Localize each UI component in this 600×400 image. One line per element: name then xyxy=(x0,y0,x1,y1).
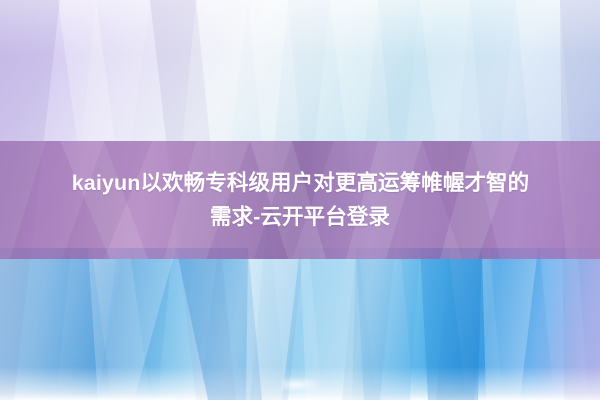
text-overlay-band: kaiyun以欢畅专科级用户对更高运筹帷幄才智的 需求-云开平台登录 xyxy=(0,141,600,259)
watermark-smudge xyxy=(282,378,318,390)
banner-headline: kaiyun以欢畅专科级用户对更高运筹帷幄才智的 需求-云开平台登录 xyxy=(0,141,600,259)
banner-image: kaiyun以欢畅专科级用户对更高运筹帷幄才智的 需求-云开平台登录 xyxy=(0,0,600,400)
headline-line-1: kaiyun以欢畅专科级用户对更高运筹帷幄才智的 xyxy=(71,168,530,198)
headline-line-2: 需求-云开平台登录 xyxy=(210,202,390,232)
